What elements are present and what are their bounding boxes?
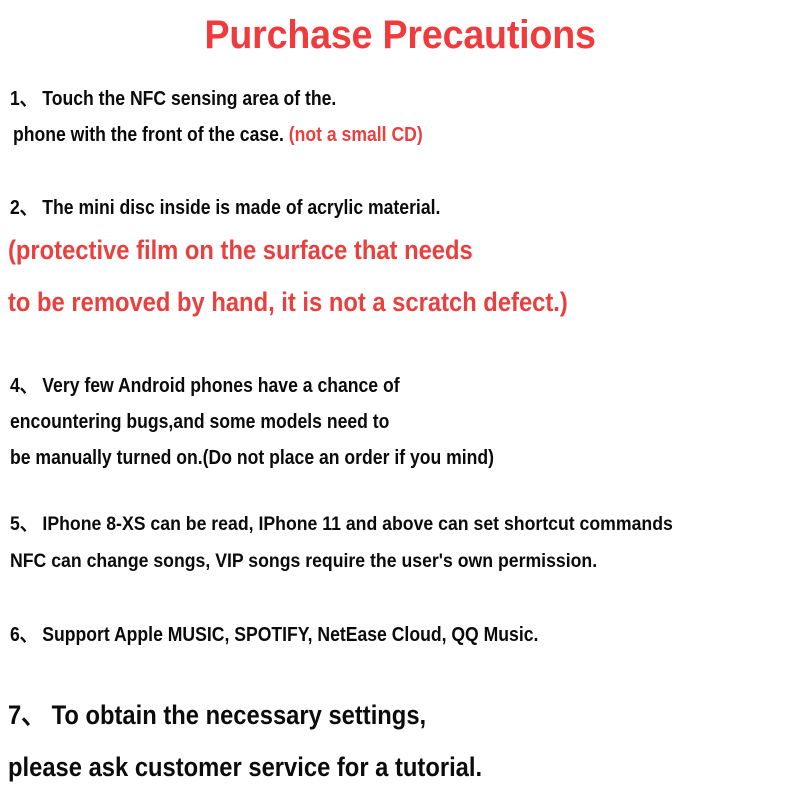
item-1-text-1: Touch the NFC sensing area of the.: [42, 88, 336, 110]
item-1-line-1: 1、 Touch the NFC sensing area of the.: [10, 86, 381, 112]
item-7-marker: 7、: [8, 700, 45, 730]
purchase-precautions-page: Purchase Precautions 1、 Touch the NFC se…: [0, 0, 800, 800]
item-2-line-1: 2、 The mini disc inside is made of acryl…: [10, 195, 499, 221]
item-6-line-1: 6、 Support Apple MUSIC, SPOTIFY, NetEase…: [10, 622, 610, 648]
item-5-line-2: NFC can change songs, VIP songs require …: [10, 549, 641, 575]
page-title: Purchase Precautions: [0, 12, 800, 58]
item-6-text-1: Support Apple MUSIC, SPOTIFY, NetEase Cl…: [42, 624, 538, 646]
item-4-text-1: Very few Android phones have a chance of: [42, 375, 399, 397]
item-4-text-3: be manually turned on.(Do not place an o…: [10, 445, 494, 471]
item-4-marker: 4、: [10, 375, 37, 397]
item-4-text-2: encountering bugs,and some models need t…: [10, 409, 389, 435]
item-1-marker: 1、: [10, 88, 37, 110]
item-7-line-1: 7、 To obtain the necessary settings,: [8, 698, 483, 732]
item-6-marker: 6、: [10, 624, 37, 646]
item-2-red-text-2: to be removed by hand, it is not a scrat…: [8, 285, 568, 319]
item-4-line-3: be manually turned on.(Do not place an o…: [10, 445, 560, 471]
item-7-line-2: please ask customer service for a tutori…: [8, 750, 547, 784]
item-2-red-line-1: (protective film on the surface that nee…: [8, 233, 536, 267]
item-2-text-1: The mini disc inside is made of acrylic …: [42, 197, 440, 219]
item-1-note-red: (not a small CD): [289, 124, 423, 146]
item-4-line-2: encountering bugs,and some models need t…: [10, 409, 441, 435]
item-4-line-1: 4、 Very few Android phones have a chance…: [10, 373, 453, 399]
item-1-line-2: phone with the front of the case. (not a…: [13, 122, 479, 148]
page-title-text: Purchase Precautions: [204, 12, 595, 58]
item-7-text-2: please ask customer service for a tutori…: [8, 750, 482, 784]
item-5-marker: 5、: [10, 514, 38, 535]
item-2-red-line-2: to be removed by hand, it is not a scrat…: [8, 285, 644, 319]
item-7-text-1: To obtain the necessary settings,: [52, 700, 427, 730]
item-2-red-text-1: (protective film on the surface that nee…: [8, 233, 473, 267]
item-2-marker: 2、: [10, 197, 37, 219]
item-1-text-2: phone with the front of the case.: [13, 124, 284, 146]
item-5-text-2: NFC can change songs, VIP songs require …: [10, 549, 597, 575]
item-5-text-1: IPhone 8-XS can be read, IPhone 11 and a…: [42, 514, 672, 535]
item-5-line-1: 5、 IPhone 8-XS can be read, IPhone 11 an…: [10, 512, 723, 538]
